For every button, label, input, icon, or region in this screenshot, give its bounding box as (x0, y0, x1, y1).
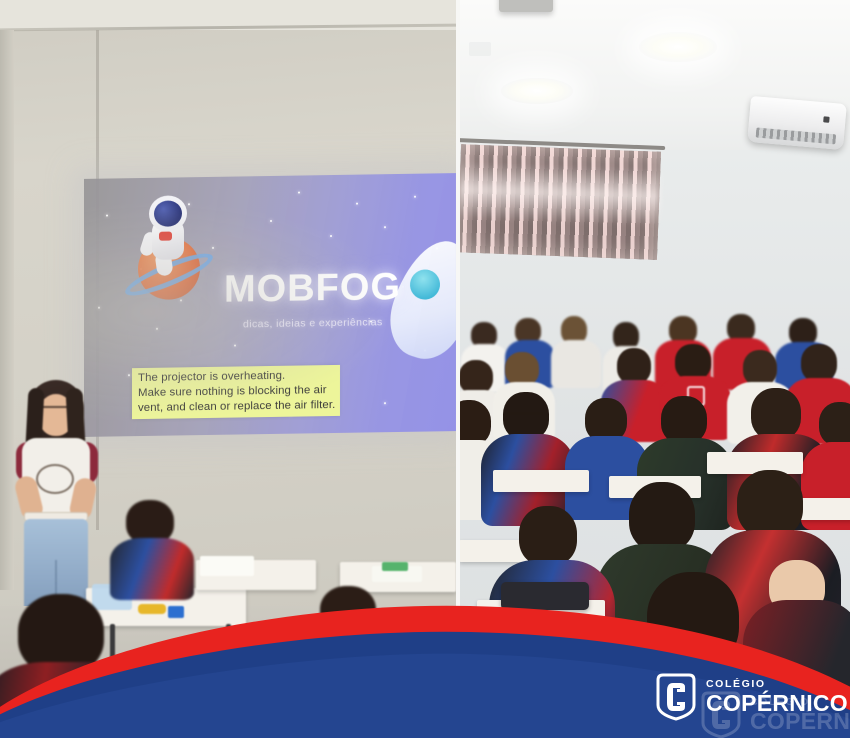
student-head (819, 402, 850, 446)
tape-roll (138, 604, 166, 614)
panel-divider (456, 0, 460, 738)
warning-line-3: vent, and clean or replace the air filte… (138, 398, 335, 416)
notebook (503, 628, 585, 646)
star (298, 192, 300, 194)
desk-leg (226, 624, 231, 686)
star (330, 235, 332, 237)
star (384, 226, 386, 228)
ceiling-vent (469, 42, 491, 56)
slide-subtitle: dicas, ideias e experiências (243, 316, 383, 330)
ceiling-projector (499, 0, 553, 12)
astronaut-on-planet-graphic (112, 189, 216, 303)
student-uniform (551, 340, 601, 388)
student-head (647, 572, 739, 668)
star (270, 220, 272, 222)
student-head (743, 350, 777, 386)
desk-item (168, 606, 184, 618)
student-head (661, 396, 707, 444)
star (356, 203, 358, 205)
star (234, 345, 236, 347)
screenshot-canvas: MOBFOG dicas, ideias e experiências The … (0, 0, 850, 738)
star (384, 402, 386, 404)
student-uniform (0, 662, 152, 738)
student-uniform (110, 538, 194, 600)
student-uniform (300, 630, 400, 720)
right-photo-panel (459, 0, 850, 738)
window (459, 142, 659, 262)
star (106, 215, 108, 217)
air-conditioner (747, 96, 847, 150)
student-head (675, 344, 711, 380)
student-uniform (743, 600, 850, 720)
pencil-case (501, 582, 589, 610)
astronaut-chest-patch (159, 232, 172, 241)
ceiling-light (639, 32, 717, 62)
green-item (382, 562, 408, 571)
left-photo-panel: MOBFOG dicas, ideias e experiências The … (0, 0, 456, 738)
desk (707, 452, 803, 474)
projected-slide: MOBFOG dicas, ideias e experiências The … (84, 173, 456, 437)
student-head (629, 482, 695, 552)
star (98, 307, 100, 309)
ceiling-light (501, 78, 573, 104)
student-head (519, 506, 577, 566)
curtain-backlight (459, 160, 660, 226)
presenter-person (6, 380, 106, 620)
student-head (617, 348, 651, 384)
star (156, 328, 158, 330)
student-head (751, 388, 801, 440)
student-head (801, 344, 837, 382)
projector-overheat-warning: The projector is overheating. Make sure … (132, 365, 340, 420)
ac-vent-louvers (756, 127, 837, 144)
student-head (459, 360, 493, 394)
ac-indicator (823, 116, 830, 123)
student-head (737, 470, 803, 538)
presenter-shirt-logo (36, 464, 74, 494)
star (128, 374, 130, 376)
notebook (200, 556, 254, 576)
student-glasses (507, 412, 543, 422)
desk (493, 470, 589, 492)
slide-title: MOBFOG (224, 266, 401, 312)
star (414, 196, 416, 198)
student-head (320, 586, 376, 636)
student-head (505, 352, 539, 386)
